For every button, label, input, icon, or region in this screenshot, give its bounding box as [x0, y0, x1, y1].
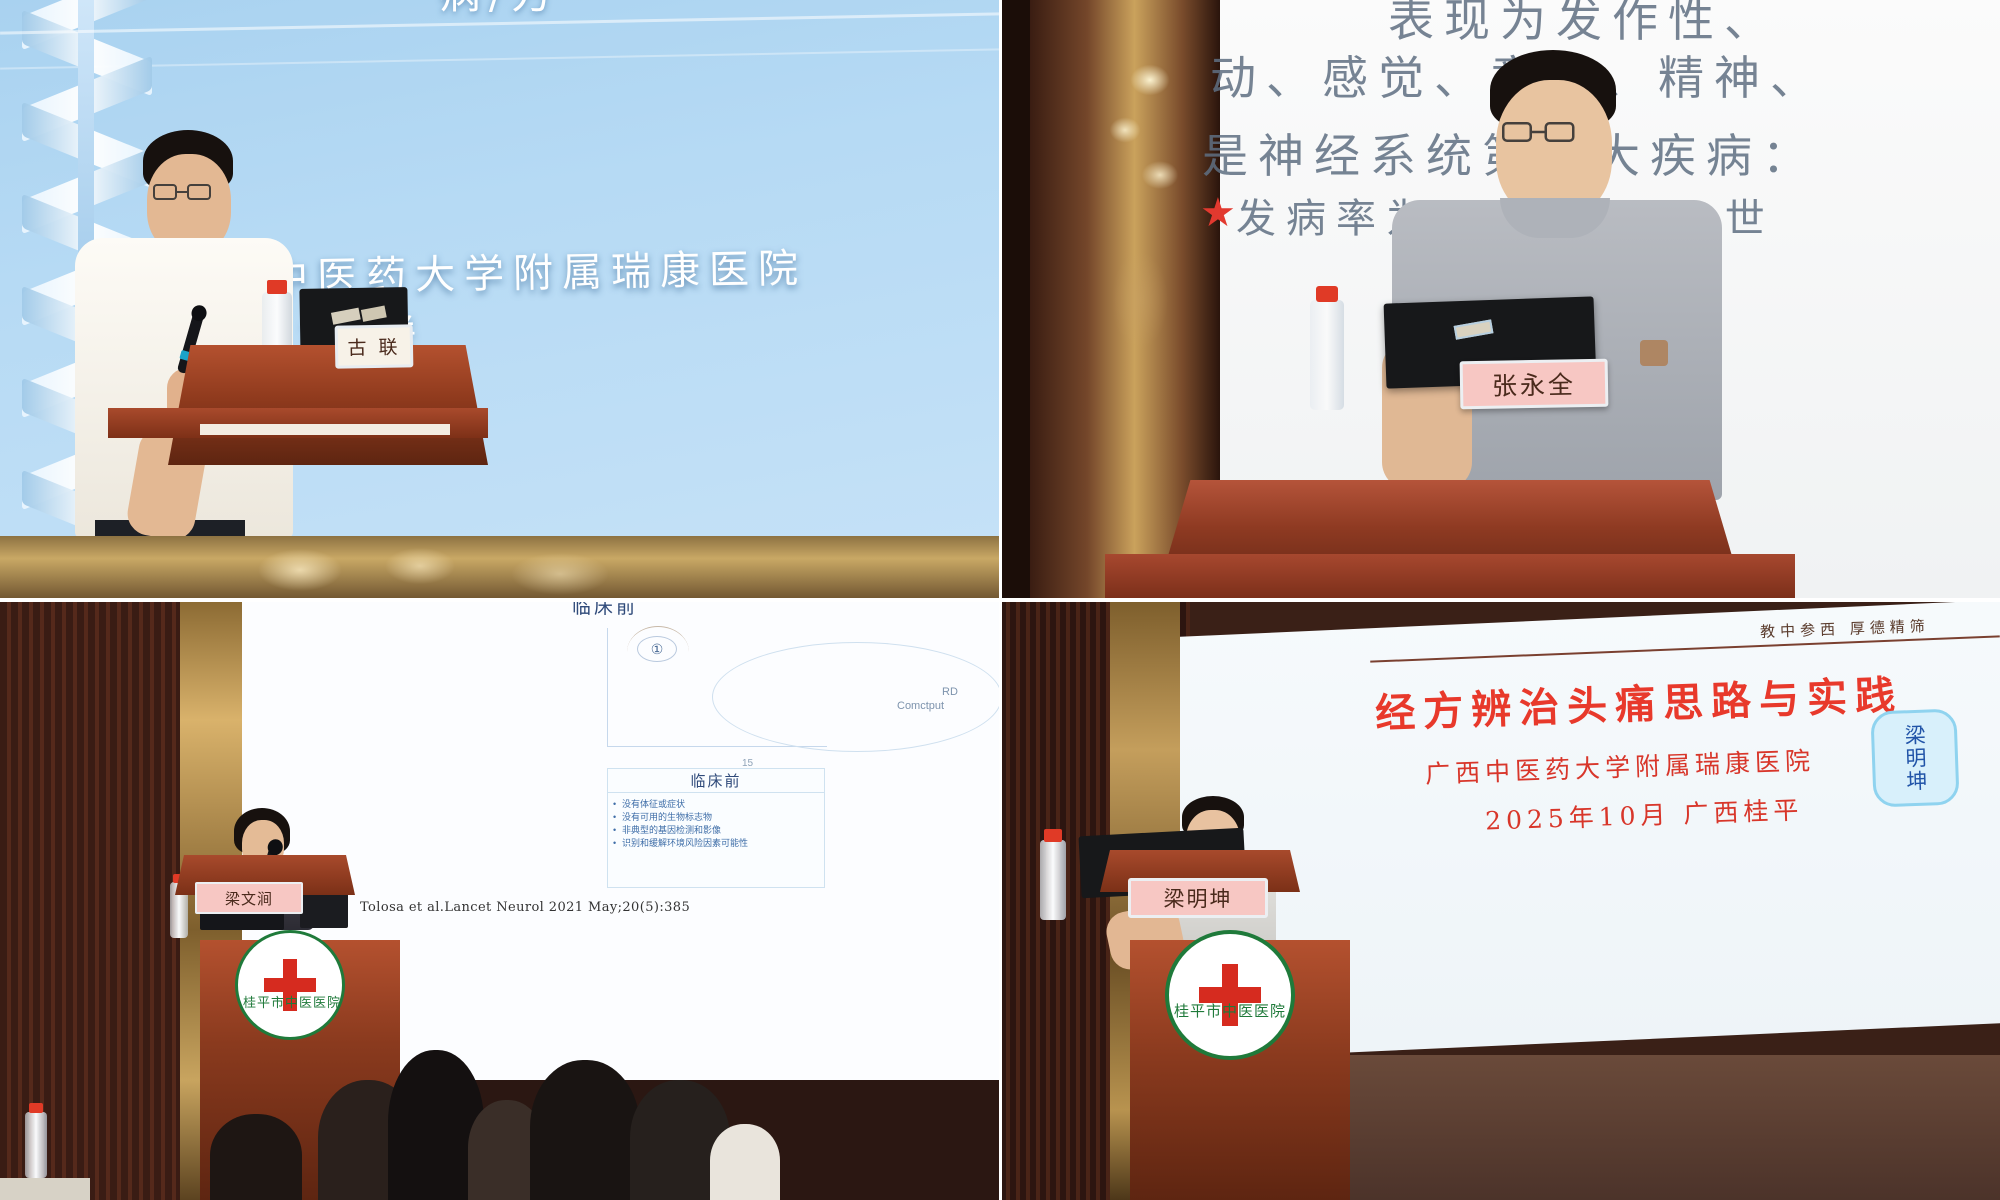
podium-1-stripe: [200, 424, 450, 435]
bottle-cap-icon: [267, 280, 287, 294]
podium-4-emblem-text: 桂平市中医医院: [1150, 1000, 1310, 1021]
panel-top-right: 表现为发作性、 动、感觉、意识、精神、 是神经系统第二大疾病： ★ 发病率为5-…: [1000, 0, 2000, 600]
hospital-emblem-4-icon: [1165, 930, 1295, 1060]
speaker-2-logo-icon: [1640, 340, 1668, 366]
nameplate-1-text: 古 联: [347, 333, 401, 361]
nameplate-3: 梁文涧: [195, 882, 303, 914]
list-item: 非典型的基因检测和影像: [622, 824, 818, 837]
panel-bottom-right: 教中参西 厚德精筛 经方辨治头痛思路与实践 广西中医药大学附属瑞康医院 2025…: [1000, 600, 2000, 1200]
slide4-subtitle-1: 广西中医药大学附属瑞康医院: [1424, 741, 1815, 791]
nameplate-2: 张永全: [1460, 359, 1609, 410]
slide4-header-right: 教中参西 厚德精筛: [1760, 615, 1930, 642]
slide4-subtitle-2: 2025年10月 广西桂平: [1484, 790, 1803, 837]
red-star-icon: ★: [1200, 190, 1236, 236]
bottle-2: [1310, 300, 1344, 410]
slide3-chart-title: 临床前: [572, 600, 638, 619]
nameplate-4: 梁明坤: [1128, 878, 1268, 918]
panel-top-left: 病/方 广西中医药大学附属瑞康医院 古 联: [0, 0, 1000, 600]
hospital-emblem-3-icon: [235, 930, 345, 1040]
laptop-sticker-2: [361, 305, 387, 321]
speaker-2: [1390, 50, 1810, 530]
slide4-title: 经方辨治头痛思路与实践: [1374, 663, 1904, 739]
audience-table: [0, 1178, 90, 1200]
audience-head: [210, 1114, 302, 1200]
wall-gold-strip-1: [0, 536, 1000, 600]
slide4-divider: [1370, 635, 2000, 662]
audience-bottle: [25, 1112, 47, 1178]
slide3-ellipse-label-1: RD: [942, 686, 958, 698]
laptop-sticker: [331, 308, 361, 325]
slide3-citation: Tolosa et al.Lancet Neurol 2021 May;20(5…: [360, 900, 690, 915]
nameplate-4-text: 梁明坤: [1164, 883, 1233, 913]
bottle-4: [1040, 840, 1066, 920]
laptop-sticker: [1454, 319, 1494, 339]
nameplate-3-text: 梁文涧: [225, 888, 273, 909]
audience-3: [200, 1050, 1000, 1200]
nameplate-2-text: 张永全: [1492, 365, 1577, 402]
slide3-y-axis: [607, 628, 608, 746]
list-item: 没有体征或症状: [622, 798, 818, 811]
audience-head: [710, 1124, 780, 1200]
list-item: 识别和缓解环境风险因素可能性: [622, 837, 818, 850]
slide3-table: 临床前 没有体征或症状 没有可用的生物标志物 非典型的基因检测和影像 识别和缓解…: [607, 768, 825, 888]
nameplate-1: 古 联: [335, 324, 414, 368]
collage-divider-horizontal: [0, 598, 2000, 602]
slide3-table-rows: 没有体征或症状 没有可用的生物标志物 非典型的基因检测和影像 识别和缓解环境风险…: [608, 793, 824, 850]
panel-bottom-left: 临床前 ① RD Comctput 15 临床前 没有体征或症状 没有可用的生物…: [0, 600, 1000, 1200]
slide4-seal-stamp: 梁明坤: [1870, 709, 1959, 808]
slide4-seal-text: 梁明坤: [1901, 723, 1929, 793]
bottle-cap-icon: [1316, 286, 1338, 302]
bottle-cap-icon: [29, 1103, 43, 1113]
list-item: 没有可用的生物标志物: [622, 811, 818, 824]
slide3-ellipse-label-2: Comctput: [897, 700, 944, 712]
podium-3-emblem-text: 桂平市中医医院: [222, 992, 362, 1011]
slide3-circle-marker: ①: [637, 636, 677, 662]
photo-collage: 病/方 广西中医药大学附属瑞康医院 古 联: [0, 0, 2000, 1200]
bottle-cap-icon: [1044, 829, 1062, 842]
slide1-partial-top-text: 病/方: [0, 0, 1000, 21]
slide3-table-header: 临床前: [608, 769, 824, 793]
podium-1: [168, 345, 488, 465]
podium-2-base: [1105, 554, 1795, 600]
audience-head: [530, 1060, 640, 1200]
